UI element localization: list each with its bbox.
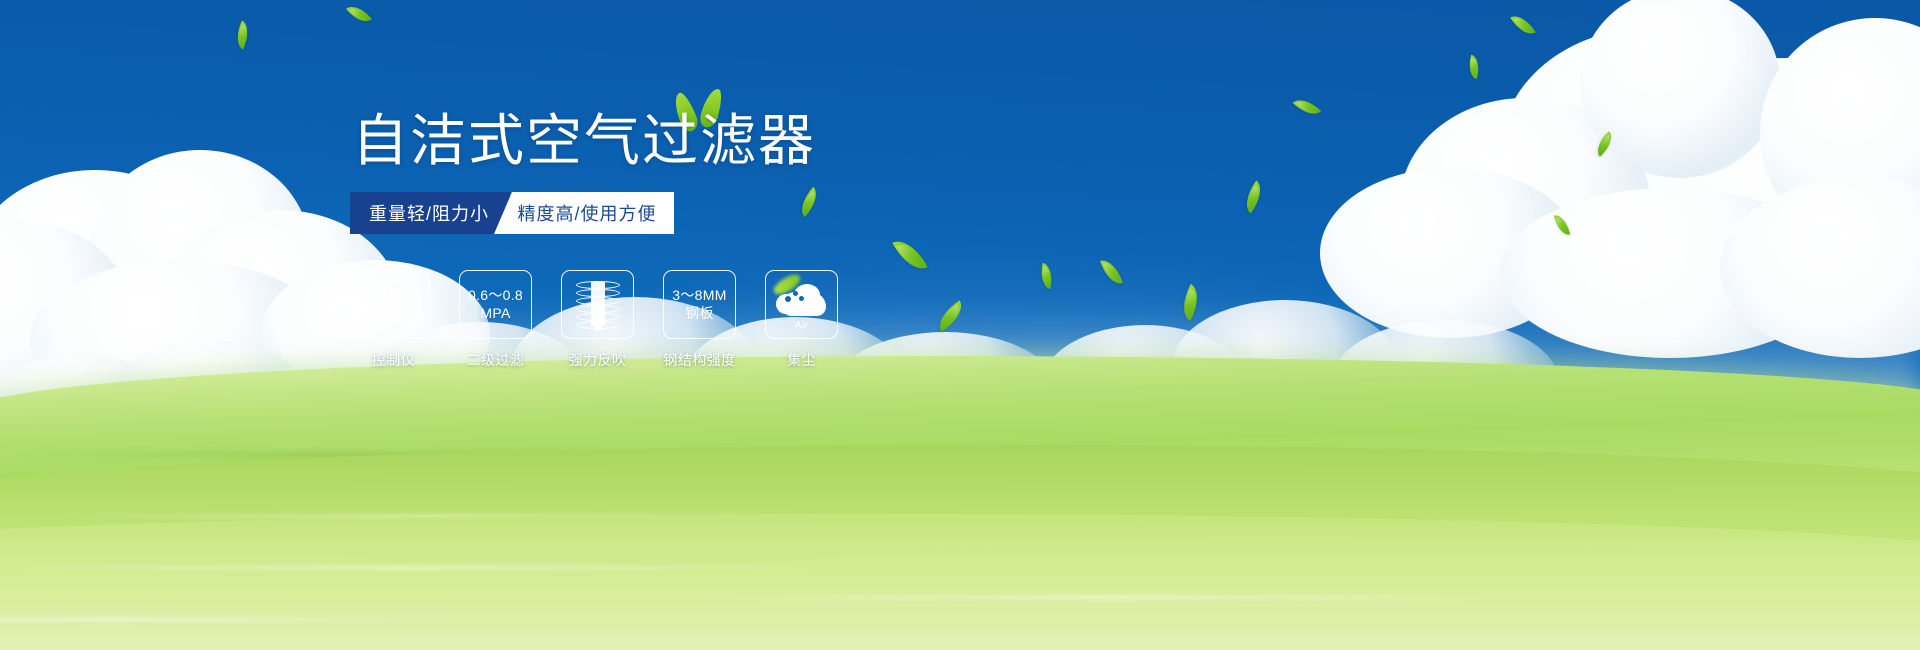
subtitle-tabs: 重量轻/阻力小 精度高/使用方便 <box>350 192 674 234</box>
feature-icon-box: 3～8MM 钢板 <box>663 270 736 339</box>
steel-line-1: 3～8MM <box>672 287 726 303</box>
feature-icon-box <box>561 270 634 339</box>
feature-icon-box: 0.6～0.8 MPA <box>459 270 532 339</box>
subtitle-tab-1[interactable]: 重量轻/阻力小 <box>350 192 510 234</box>
feature-icon-box: NO OFF <box>357 270 430 339</box>
feature-caption: 二级过滤 <box>459 350 532 370</box>
feature-item-pressure[interactable]: 0.6～0.8 MPA 二级过滤 <box>459 270 532 370</box>
feature-item-controller[interactable]: NO OFF 控制仪 <box>357 270 430 370</box>
feature-item-dustcollect[interactable]: Air 集尘 <box>765 270 838 370</box>
feature-item-backblow[interactable]: 强力反吹 <box>561 270 634 370</box>
feature-icon-box: Air <box>765 270 838 339</box>
subtitle-tab-2[interactable]: 精度高/使用方便 <box>494 192 674 234</box>
feature-list: NO OFF 控制仪 0.6～0.8 MPA 二级过滤 <box>357 270 838 370</box>
feature-caption: 强力反吹 <box>561 350 634 370</box>
gauge-label-off: OFF <box>408 323 420 329</box>
steel-plate-text-icon: 3～8MM 钢板 <box>672 287 726 322</box>
page-title: 自洁式空气过滤器 <box>352 113 816 169</box>
pressure-text-icon: 0.6～0.8 MPA <box>468 287 523 322</box>
gauge-dial-icon: NO OFF <box>367 280 421 330</box>
pressure-line-2: MPA <box>468 305 523 323</box>
banner-content: 自洁式空气过滤器 重量轻/阻力小 精度高/使用方便 <box>0 0 1920 650</box>
pressure-line-1: 0.6～0.8 <box>468 287 523 303</box>
feature-caption: 钢结构强度 <box>663 350 736 370</box>
steel-line-2: 钢板 <box>672 305 726 323</box>
feature-caption: 集尘 <box>765 350 838 370</box>
hero-banner: 自洁式空气过滤器 重量轻/阻力小 精度高/使用方便 <box>0 0 1920 650</box>
feature-caption: 控制仪 <box>357 350 430 370</box>
gauge-label-no: NO <box>366 304 375 310</box>
coil-spiral-icon <box>576 280 620 330</box>
feature-item-steel[interactable]: 3～8MM 钢板 钢结构强度 <box>663 270 736 370</box>
cloud-air-icon: Air <box>774 282 830 328</box>
air-label: Air <box>774 320 830 331</box>
